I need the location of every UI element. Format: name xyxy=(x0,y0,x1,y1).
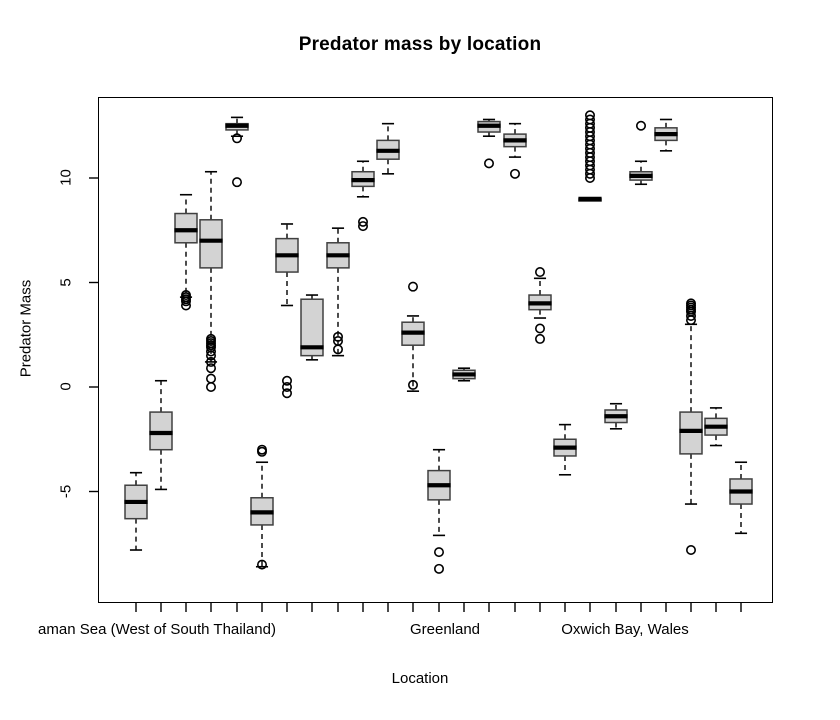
outlier-point xyxy=(409,282,417,290)
boxplot-box[interactable] xyxy=(503,124,526,178)
boxplot-box[interactable] xyxy=(452,368,475,381)
boxplot-canvas xyxy=(0,0,840,720)
boxplot-box[interactable] xyxy=(477,119,500,167)
boxplot-box[interactable] xyxy=(679,299,702,554)
x-group-label: Oxwich Bay, Wales xyxy=(561,621,689,638)
outlier-point xyxy=(511,170,519,178)
boxplot-box[interactable] xyxy=(225,117,248,186)
boxplot-box[interactable] xyxy=(654,119,677,150)
boxplot-box[interactable] xyxy=(528,268,551,343)
y-axis-ticks xyxy=(89,178,98,492)
boxplot-box[interactable] xyxy=(326,228,349,355)
boxplot-box[interactable] xyxy=(604,404,627,429)
y-tick-label: 0 xyxy=(58,367,75,407)
outlier-point xyxy=(637,122,645,130)
boxplot-box[interactable] xyxy=(629,122,652,185)
outlier-point xyxy=(435,565,443,573)
boxplot-box[interactable] xyxy=(149,381,172,490)
outlier-point xyxy=(207,364,215,372)
x-group-label: Greenland xyxy=(410,621,480,638)
x-axis-ticks xyxy=(136,603,741,612)
boxplot-box[interactable] xyxy=(199,172,222,391)
boxplot-box[interactable] xyxy=(275,224,298,397)
outlier-point xyxy=(207,374,215,382)
outlier-point xyxy=(207,383,215,391)
boxplot-box[interactable] xyxy=(124,473,147,550)
chart-root: Predator mass by location Predator Mass … xyxy=(0,0,840,720)
outlier-point xyxy=(536,335,544,343)
boxplot-box[interactable] xyxy=(729,462,752,533)
y-tick-label: 5 xyxy=(58,262,75,302)
boxplot-box[interactable] xyxy=(578,111,601,201)
boxplot-box[interactable] xyxy=(704,408,727,446)
boxplot-box[interactable] xyxy=(427,450,450,573)
outlier-point xyxy=(536,324,544,332)
outlier-point xyxy=(536,268,544,276)
box-iqr xyxy=(200,220,222,268)
y-tick-label: 10 xyxy=(58,158,75,198)
boxplot-box[interactable] xyxy=(250,446,273,569)
outlier-point xyxy=(233,178,241,186)
outlier-point xyxy=(435,548,443,556)
boxplot-box[interactable] xyxy=(351,161,374,230)
boxplot-box[interactable] xyxy=(553,425,576,475)
x-group-label: aman Sea (West of South Thailand) xyxy=(38,621,276,638)
boxplot-box[interactable] xyxy=(174,195,197,310)
outlier-point xyxy=(687,546,695,554)
y-tick-label: -5 xyxy=(58,471,75,511)
boxplot-box[interactable] xyxy=(376,124,399,174)
boxplot-box[interactable] xyxy=(401,282,424,391)
boxplot-box[interactable] xyxy=(300,295,323,360)
outlier-point xyxy=(485,159,493,167)
outlier-point xyxy=(233,134,241,142)
outlier-point xyxy=(283,389,291,397)
